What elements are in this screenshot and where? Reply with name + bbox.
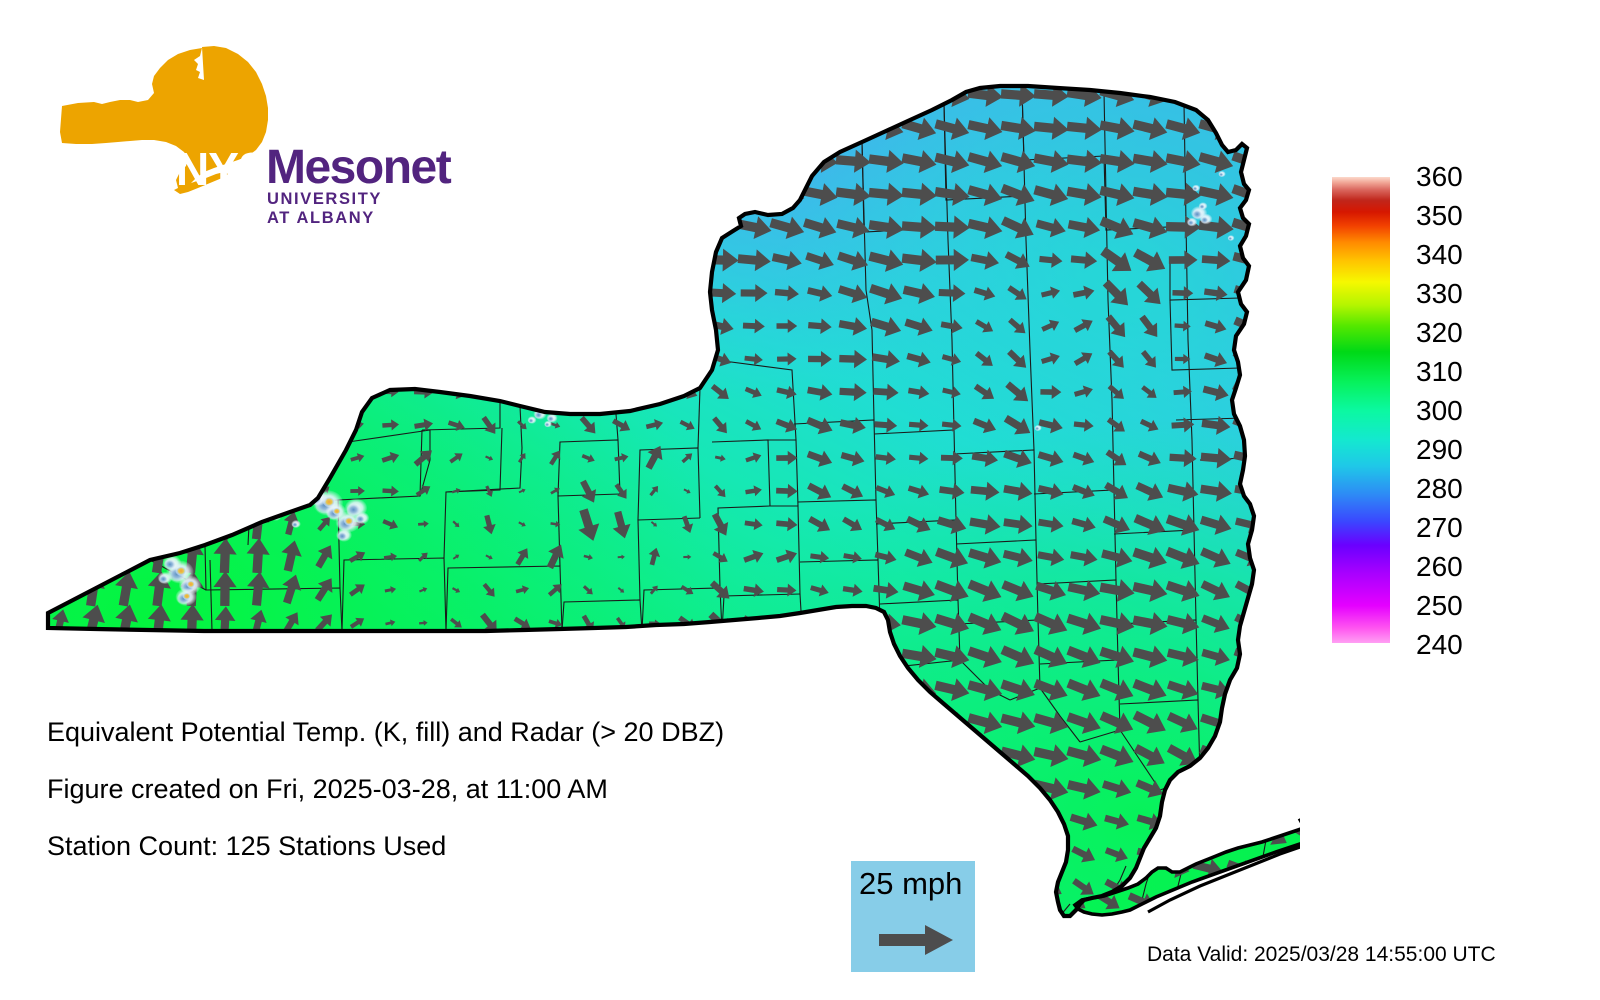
figure-created-text: Figure created on Fri, 2025-03-28, at 11… xyxy=(47,775,947,803)
logo-text-mesonet: Mesonet xyxy=(266,140,450,195)
logo-text-nys: NYS xyxy=(176,142,268,196)
colorbar: 360 350 340 330 320 310 300 290 280 270 … xyxy=(1332,177,1572,647)
colorbar-gradient xyxy=(1332,177,1390,643)
wind-key-label: 25 mph xyxy=(859,865,962,903)
logo-text-university: UNIVERSITY AT ALBANY xyxy=(267,190,398,228)
nys-mesonet-logo: NYS Mesonet UNIVERSITY AT ALBANY xyxy=(48,42,398,202)
colorbar-tick: 310 xyxy=(1416,356,1546,388)
colorbar-tick-labels: 360 350 340 330 320 310 300 290 280 270 … xyxy=(1416,161,1546,661)
colorbar-tick: 340 xyxy=(1416,239,1546,271)
wind-arrow-icon xyxy=(877,923,957,957)
data-valid-text: Data Valid: 2025/03/28 14:55:00 UTC xyxy=(1147,943,1496,967)
colorbar-tick: 290 xyxy=(1416,434,1546,466)
colorbar-tick: 240 xyxy=(1416,629,1546,661)
wind-speed-key: 25 mph xyxy=(851,861,975,972)
colorbar-tick: 350 xyxy=(1416,200,1546,232)
colorbar-tick: 330 xyxy=(1416,278,1546,310)
colorbar-tick: 280 xyxy=(1416,473,1546,505)
station-count-text: Station Count: 125 Stations Used xyxy=(47,832,947,860)
colorbar-tick: 250 xyxy=(1416,590,1546,622)
colorbar-tick: 360 xyxy=(1416,161,1546,193)
colorbar-tick: 320 xyxy=(1416,317,1546,349)
map-title: Equivalent Potential Temp. (K, fill) and… xyxy=(47,718,947,746)
caption-block: Equivalent Potential Temp. (K, fill) and… xyxy=(47,718,947,889)
colorbar-tick: 270 xyxy=(1416,512,1546,544)
colorbar-tick: 260 xyxy=(1416,551,1546,583)
colorbar-tick: 300 xyxy=(1416,395,1546,427)
